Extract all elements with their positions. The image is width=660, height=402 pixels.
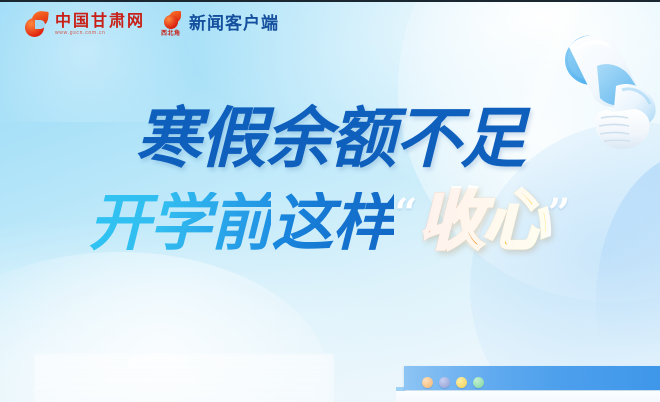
dot-orange[interactable] [422,377,433,388]
headline-line-2-part-1: 开学前 [88,192,271,254]
quote-open-mark: “ [395,194,418,234]
headline-line-2-part-2: 这样 [271,192,393,254]
brand-gansu-net[interactable]: 中国甘肃网 www.gscn.com.cn [24,11,145,37]
quote-close-mark: ” [548,194,571,234]
window-mockup [396,362,660,402]
poster-canvas: 中国甘肃网 www.gscn.com.cn 西北角 新闻客户端 [0,0,660,402]
headline-highlight: 收心 [419,188,547,254]
brand-mark-xibeijiao: 西北角 [161,28,181,37]
headline-line-1: 寒假余额不足 [0,106,660,172]
dot-yellow[interactable] [456,377,467,388]
window-title-bar [404,366,660,390]
window-control-dots [422,377,484,388]
headline-line-2: 开学前 这样 “ 收心 ” [0,188,660,254]
window-body [396,391,660,402]
dot-periwinkle[interactable] [439,377,450,388]
background-panel-left [34,354,334,402]
flame-logo-icon-secondary: 西北角 [163,11,183,37]
flame-logo-icon [24,11,50,37]
dot-green[interactable] [473,377,484,388]
brand-url-gansu: www.gscn.com.cn [55,31,145,36]
brand-name-news-client: 新闻客户端 [189,16,279,33]
brand-name-gansu: 中国甘肃网 [55,13,145,29]
brand-news-app[interactable]: 西北角 新闻客户端 [163,11,279,37]
headline-block: 寒假余额不足 开学前 这样 “ 收心 ” [0,106,660,254]
